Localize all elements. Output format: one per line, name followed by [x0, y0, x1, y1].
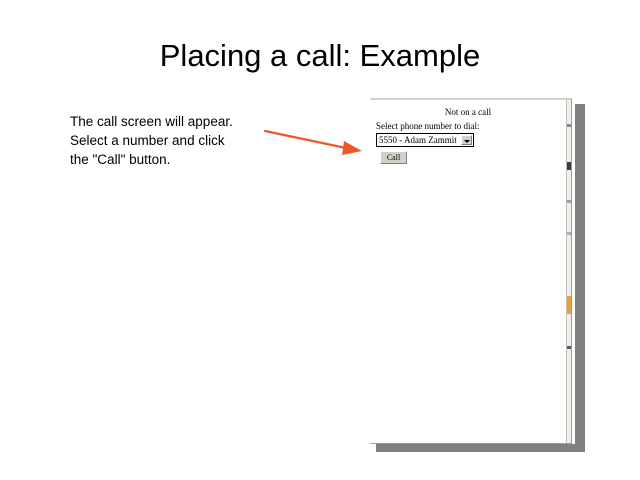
instruction-line: The call screen will appear. — [70, 112, 280, 131]
arrow-head — [342, 141, 362, 155]
instruction-text: The call screen will appear. Select a nu… — [70, 112, 280, 169]
scrollbar-mark — [567, 346, 571, 349]
instruction-line: Select a number and click — [70, 131, 280, 150]
phone-number-select[interactable]: 5550 - Adam Zammit — [376, 133, 474, 147]
call-button[interactable]: Call — [380, 151, 407, 164]
scrollbar-mark — [567, 124, 571, 127]
screenshot-shadow-bottom — [376, 444, 581, 452]
vertical-scrollbar[interactable] — [566, 100, 571, 443]
screenshot-shadow-right — [575, 104, 585, 452]
page-title: Placing a call: Example — [0, 38, 640, 74]
scrollbar-mark — [567, 200, 571, 203]
caret-glyph — [464, 140, 470, 143]
app-content: Not on a call Select phone number to dia… — [371, 100, 565, 443]
phone-select-label: Select phone number to dial: — [375, 121, 561, 131]
instruction-line: the "Call" button. — [70, 150, 280, 169]
embedded-app-screenshot: Not on a call Select phone number to dia… — [370, 98, 572, 444]
slide: Placing a call: Example The call screen … — [0, 0, 640, 480]
scrollbar-mark — [567, 232, 571, 235]
call-status-text: Not on a call — [375, 107, 561, 117]
phone-select-value: 5550 - Adam Zammit — [379, 135, 457, 145]
scrollbar-mark — [567, 296, 571, 314]
scrollbar-mark — [567, 162, 571, 170]
chevron-down-icon[interactable] — [461, 135, 472, 145]
